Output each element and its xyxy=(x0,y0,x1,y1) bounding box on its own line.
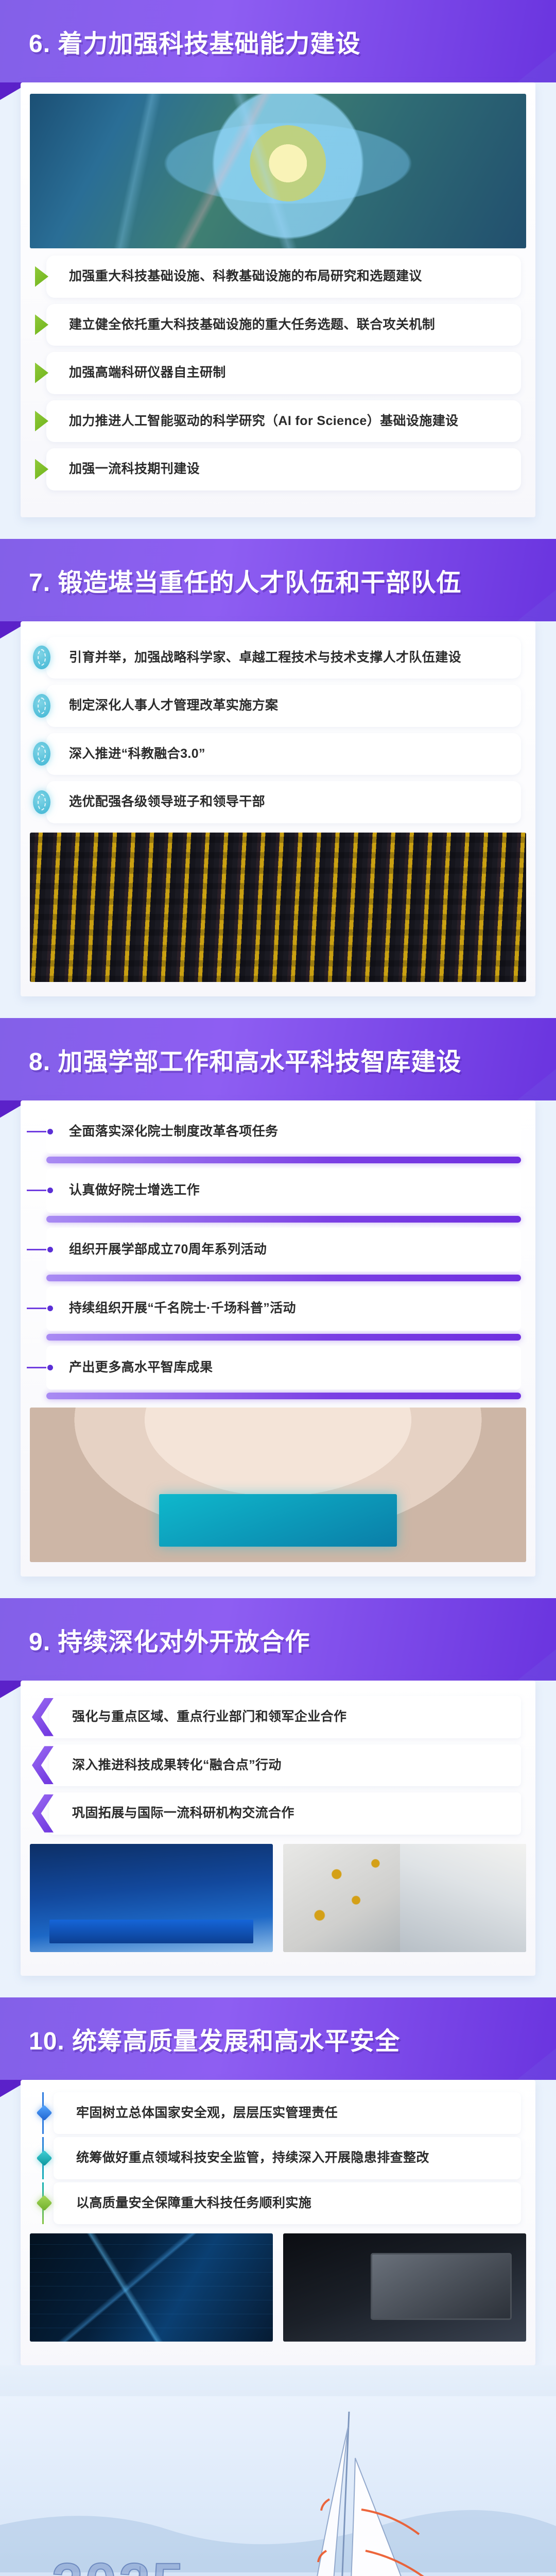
line-dot-bullet-icon xyxy=(27,1188,55,1194)
section-banner-7: 7. 锻造堪当重任的人才队伍和干部队伍 xyxy=(0,539,556,621)
arrow-bullet-icon xyxy=(35,363,48,383)
line-dot-bullet-icon xyxy=(27,1364,55,1370)
list-item-label: 强化与重点区域、重点行业部门和领军企业合作 xyxy=(72,1707,346,1727)
chevron-bullet-icon xyxy=(32,1698,54,1736)
list-item-label: 牢固树立总体国家安全观，层层压实管理责任 xyxy=(76,2104,338,2123)
arrow-bullet-icon xyxy=(35,459,48,480)
arrow-bullet-icon xyxy=(35,411,48,431)
list-item-label: 统筹做好重点领域科技安全监管，持续深入开展隐患排查整改 xyxy=(76,2148,429,2168)
footer-image-bay-area-forum xyxy=(30,1844,273,1952)
list-item[interactable]: 加强一流科技期刊建设 xyxy=(46,448,521,490)
list-item-label: 巩固拓展与国际一流科研机构交流合作 xyxy=(72,1804,294,1823)
section-panel-9: 强化与重点区域、重点行业部门和领军企业合作 深入推进科技成果转化“融合点”行动 … xyxy=(21,1681,535,1976)
spacer xyxy=(21,2345,535,2358)
oval-bullet-icon xyxy=(33,646,50,669)
section-title-10: 10. 统筹高质量发展和高水平安全 xyxy=(29,2021,400,2057)
closing-section: 2025 百舸争流千帆竞 攻坚克难奋者先 新的一年，让我们更加紧密地团结在以习近… xyxy=(0,2365,556,2576)
line-dot-bullet-icon xyxy=(27,1306,55,1312)
oval-bullet-icon xyxy=(33,790,50,814)
arrow-bullet-icon xyxy=(35,314,48,335)
list-item-label: 加强一流科技期刊建设 xyxy=(69,460,200,479)
section-title-8: 8. 加强学部工作和高水平科技智库建设 xyxy=(29,1041,461,1077)
section-banner-6: 6. 着力加强科技基础能力建设 xyxy=(0,0,556,82)
arrow-bullet-icon xyxy=(35,266,48,287)
section-panel-6: 加强重大科技基础设施、科教基础设施的布局研究和选题建议 建立健全依托重大科技基础… xyxy=(21,82,535,517)
section-gap xyxy=(0,517,556,539)
list-item[interactable]: 全面落实深化院士制度改革各项任务 xyxy=(46,1110,521,1154)
section-panel-10: 牢固树立总体国家安全观，层层压实管理责任 统筹做好重点领域科技安全监管，持续深入… xyxy=(21,2080,535,2366)
list-item[interactable]: 建立健全依托重大科技基础设施的重大任务选题、联合攻关机制 xyxy=(46,304,521,346)
footer-image-detector-lab xyxy=(283,1844,526,1952)
list-item[interactable]: 统筹做好重点领域科技安全监管，持续深入开展隐患排查整改 xyxy=(54,2137,521,2179)
footer-image-forum-hall xyxy=(30,1408,526,1562)
list-item[interactable]: 牢固树立总体国家安全观，层层压实管理责任 xyxy=(54,2092,521,2134)
list-item-label: 产出更多高水平智库成果 xyxy=(69,1358,213,1378)
chevron-bullet-icon xyxy=(32,1794,54,1833)
list-item-label: 制定深化人事人才管理改革实施方案 xyxy=(69,696,278,716)
list-item-label: 建立健全依托重大科技基础设施的重大任务选题、联合攻关机制 xyxy=(69,315,435,335)
list-item-label: 持续组织开展“千名院士·千场科普”活动 xyxy=(69,1299,296,1318)
list-item[interactable]: 加强重大科技基础设施、科教基础设施的布局研究和选题建议 xyxy=(46,256,521,298)
list-item-label: 深入推进“科教融合3.0” xyxy=(69,744,205,764)
line-dot-bullet-icon xyxy=(27,1128,55,1134)
section-gap xyxy=(0,1976,556,1997)
list-item-label: 加强高端科研仪器自主研制 xyxy=(69,363,226,383)
list-item[interactable]: 产出更多高水平智库成果 xyxy=(46,1346,521,1390)
diamond-bullet-icon xyxy=(36,2195,52,2211)
section-banner-8: 8. 加强学部工作和高水平科技智库建设 xyxy=(0,1018,556,1100)
section-panel-8: 全面落实深化院士制度改革各项任务 认真做好院士增选工作 组织开展学部成立70周年… xyxy=(21,1100,535,1577)
list-item[interactable]: 巩固拓展与国际一流科研机构交流合作 xyxy=(49,1792,521,1835)
list-item-label: 选优配强各级领导班子和领导干部 xyxy=(69,792,265,812)
divider xyxy=(46,1275,521,1281)
list-item[interactable]: 组织开展学部成立70周年系列活动 xyxy=(46,1228,521,1272)
diamond-bullet-icon xyxy=(36,2105,52,2121)
line-dot-bullet-icon xyxy=(27,1246,55,1252)
list-item-label: 加强重大科技基础设施、科教基础设施的布局研究和选题建议 xyxy=(69,267,422,286)
divider xyxy=(46,1334,521,1341)
chevron-bullet-icon xyxy=(32,1746,54,1784)
section-gap xyxy=(0,1577,556,1598)
section-title-9: 9. 持续深化对外开放合作 xyxy=(29,1621,310,1657)
divider xyxy=(46,1216,521,1223)
list-item[interactable]: 持续组织开展“千名院士·千场科普”活动 xyxy=(46,1286,521,1331)
footer-image-circuit-chip xyxy=(30,2233,273,2342)
list-item-label: 加力推进人工智能驱动的科学研究（AI for Science）基础设施建设 xyxy=(69,412,459,431)
diamond-bullet-icon xyxy=(36,2150,52,2166)
divider xyxy=(46,1157,521,1163)
list-item[interactable]: 强化与重点区域、重点行业部门和领军企业合作 xyxy=(49,1696,521,1738)
footer-image-laptop-workspace xyxy=(283,2233,526,2342)
calligraphy-line-1: 百舸争流千帆竞 xyxy=(0,2365,556,2576)
list-item[interactable]: 引育并举，加强战略科学家、卓越工程技术与技术支撑人才队伍建设 xyxy=(46,637,521,679)
list-item[interactable]: 加强高端科研仪器自主研制 xyxy=(46,352,521,394)
list-item[interactable]: 选优配强各级领导班子和领导干部 xyxy=(46,781,521,823)
section-gap xyxy=(0,996,556,1018)
photo-row xyxy=(30,1844,526,1952)
oval-bullet-icon xyxy=(33,694,50,718)
list-item-label: 引育并举，加强战略科学家、卓越工程技术与技术支撑人才队伍建设 xyxy=(69,648,461,668)
section-banner-10: 10. 统筹高质量发展和高水平安全 xyxy=(0,1997,556,2080)
list-item-label: 组织开展学部成立70周年系列活动 xyxy=(69,1240,267,1260)
section-title-6: 6. 着力加强科技基础能力建设 xyxy=(29,23,360,59)
footer-image-graduation xyxy=(30,833,526,982)
list-item[interactable]: 加力推进人工智能驱动的科学研究（AI for Science）基础设施建设 xyxy=(46,400,521,443)
list-item-label: 深入推进科技成果转化“融合点”行动 xyxy=(72,1756,282,1775)
divider xyxy=(46,1393,521,1399)
section-title-7: 7. 锻造堪当重任的人才队伍和干部队伍 xyxy=(29,562,461,598)
list-item-label: 全面落实深化院士制度改革各项任务 xyxy=(69,1122,278,1142)
list-item[interactable]: 深入推进“科教融合3.0” xyxy=(46,733,521,775)
list-item[interactable]: 深入推进科技成果转化“融合点”行动 xyxy=(49,1744,521,1787)
photo-row xyxy=(30,2233,526,2342)
section-banner-9: 9. 持续深化对外开放合作 xyxy=(0,1598,556,1681)
list-item[interactable]: 认真做好院士增选工作 xyxy=(46,1168,521,1213)
spacer xyxy=(21,497,535,510)
hero-image-synchrotron xyxy=(30,94,526,248)
oval-bullet-icon xyxy=(33,742,50,766)
list-item[interactable]: 制定深化人事人才管理改革实施方案 xyxy=(46,685,521,727)
list-item-label: 认真做好院士增选工作 xyxy=(69,1181,200,1200)
list-item-label: 以高质量安全保障重大科技任务顺利实施 xyxy=(76,2194,311,2213)
spacer xyxy=(21,1955,535,1969)
list-item[interactable]: 以高质量安全保障重大科技任务顺利实施 xyxy=(54,2182,521,2225)
section-panel-7: 引育并举，加强战略科学家、卓越工程技术与技术支撑人才队伍建设 制定深化人事人才管… xyxy=(21,621,535,996)
